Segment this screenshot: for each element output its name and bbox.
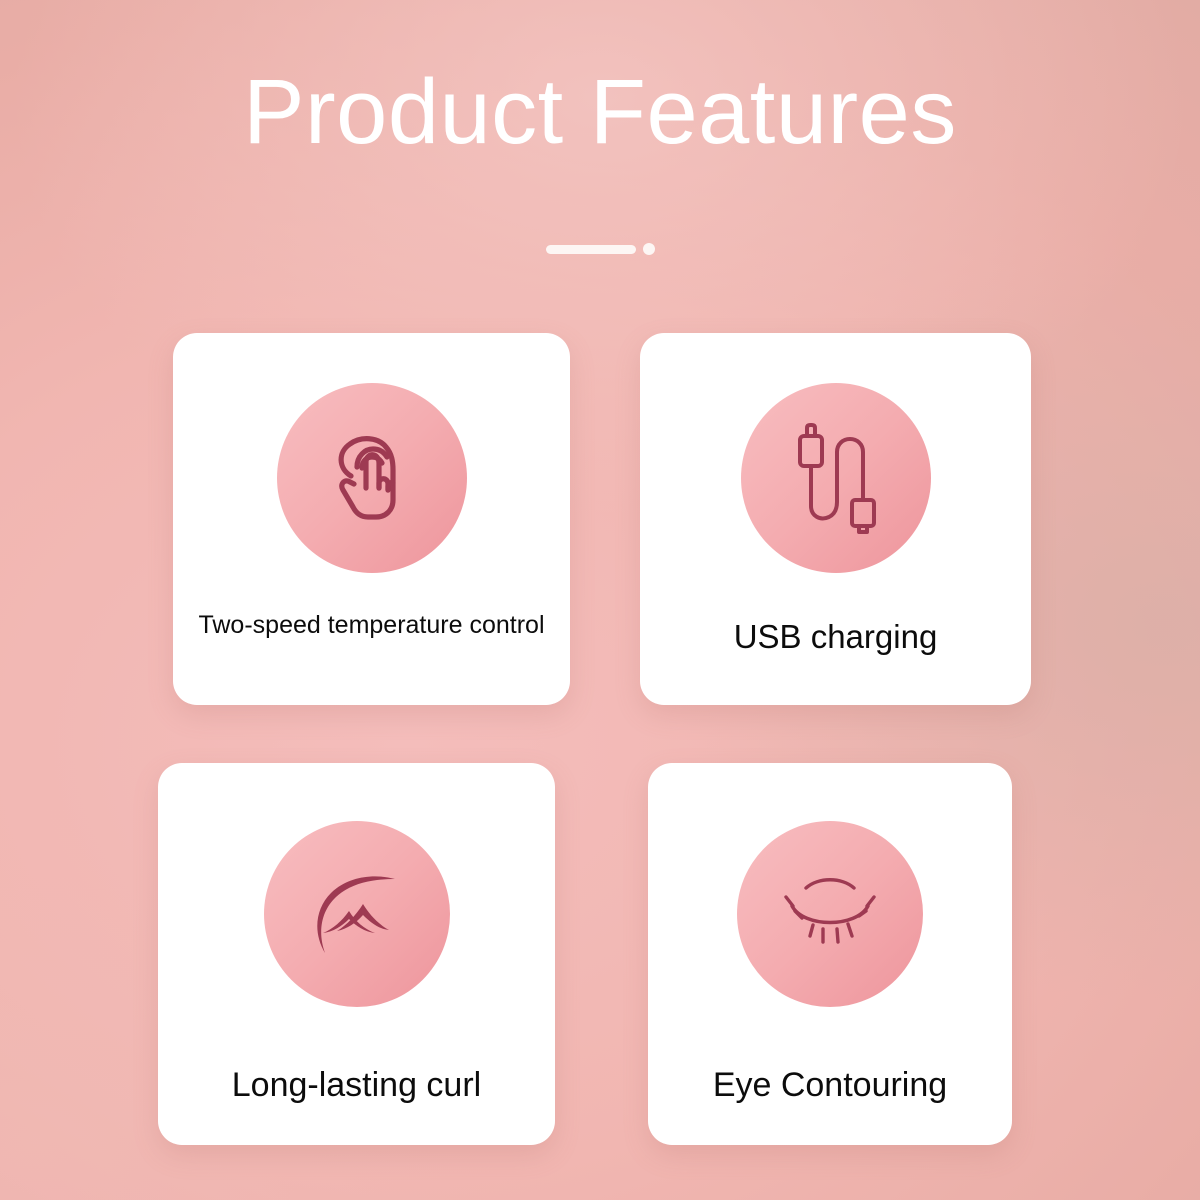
feature-card-label: Eye Contouring: [648, 1063, 1012, 1109]
feature-icon-circle: [277, 383, 467, 573]
divider-dot-icon: [643, 243, 655, 255]
page-title: Product Features: [0, 0, 1200, 158]
page-header: Product Features: [0, 0, 1200, 158]
curled-lash-icon: [303, 863, 411, 965]
feature-icon-circle: [741, 383, 931, 573]
divider-bar: [546, 245, 636, 254]
feature-icon-circle: [737, 821, 923, 1007]
feature-card-two-speed-temperature-control[interactable]: Two-speed temperature control: [173, 333, 570, 705]
feature-card-long-lasting-curl[interactable]: Long-lasting curl: [158, 763, 555, 1145]
feature-card-label: USB charging: [640, 615, 1031, 660]
feature-card-label: Two-speed temperature control: [173, 609, 570, 643]
usb-cable-icon: [782, 420, 890, 536]
feature-card-usb-charging[interactable]: USB charging: [640, 333, 1031, 705]
feature-card-eye-contouring[interactable]: Eye Contouring: [648, 763, 1012, 1145]
touch-gesture-icon: [316, 422, 428, 534]
feature-icon-circle: [264, 821, 450, 1007]
closed-eye-lashes-icon: [778, 866, 882, 962]
feature-card-label: Long-lasting curl: [158, 1063, 555, 1109]
title-divider: [0, 242, 1200, 256]
